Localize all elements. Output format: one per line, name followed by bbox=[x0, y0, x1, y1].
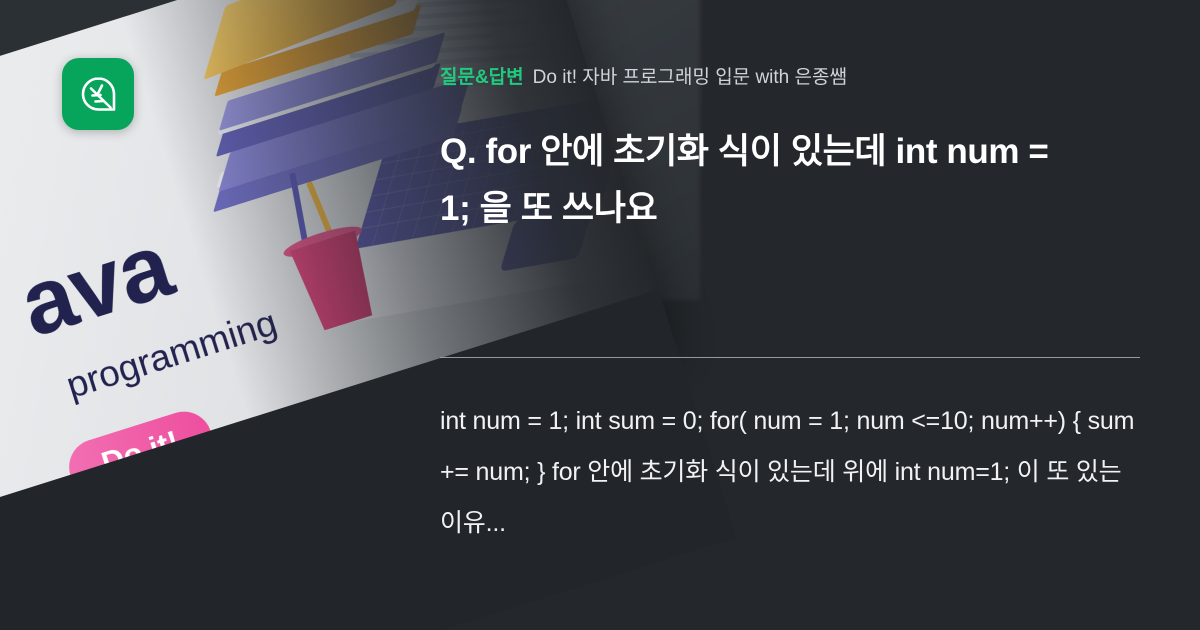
app-logo[interactable] bbox=[62, 58, 134, 130]
leaf-speech-bubble-icon bbox=[78, 74, 118, 114]
breadcrumb: 질문&답변Do it! 자바 프로그래밍 입문 with 은종쌤 bbox=[440, 62, 847, 89]
content-divider bbox=[440, 357, 1140, 358]
post-content: 질문&답변Do it! 자바 프로그래밍 입문 with 은종쌤 Q. for … bbox=[440, 0, 1154, 630]
post-title: Q. for 안에 초기화 식이 있는데 int num = 1; 을 또 쓰나… bbox=[440, 124, 1056, 237]
breadcrumb-category[interactable]: 질문&답변 bbox=[440, 67, 524, 88]
post-excerpt: int num = 1; int sum = 0; for( num = 1; … bbox=[440, 396, 1136, 548]
breadcrumb-course[interactable]: Do it! 자바 프로그래밍 입문 with 은종쌤 bbox=[533, 67, 847, 88]
og-card: ava programming Do it! 질문&답변Do it! 자바 프로… bbox=[0, 0, 1200, 630]
